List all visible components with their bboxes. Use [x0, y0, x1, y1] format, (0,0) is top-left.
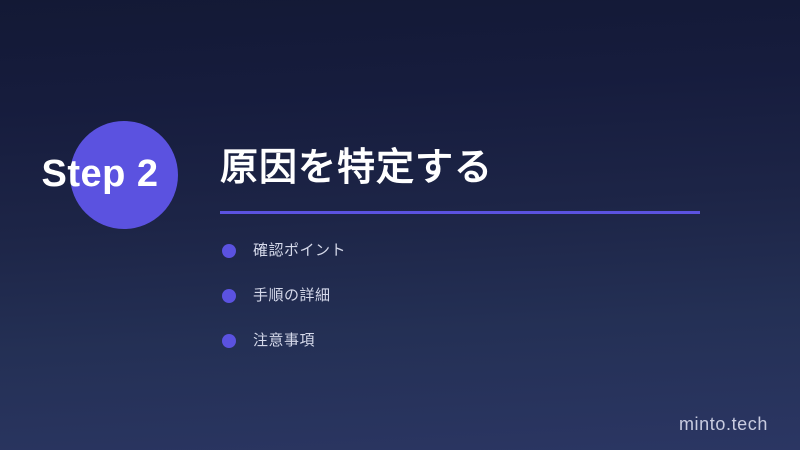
footer-brand: minto.tech — [679, 412, 768, 436]
step-badge-label: Step 2 — [0, 150, 200, 198]
list-item-label: 手順の詳細 — [253, 286, 331, 306]
bullet-dot-icon — [222, 289, 236, 303]
list-item: 手順の詳細 — [220, 282, 780, 310]
list-item: 確認ポイント — [220, 237, 780, 265]
presentation-slide: Step 2 原因を特定する 確認ポイント 手順の詳細 注意事項 minto.t… — [0, 0, 800, 450]
list-item: 注意事項 — [220, 327, 780, 355]
bullet-dot-icon — [222, 244, 236, 258]
list-item-label: 注意事項 — [253, 331, 315, 351]
title-divider — [220, 211, 700, 214]
bullet-list: 確認ポイント 手順の詳細 注意事項 — [220, 237, 780, 355]
slide-content: 原因を特定する 確認ポイント 手順の詳細 注意事項 — [220, 145, 780, 372]
step-badge: Step 2 — [0, 110, 220, 240]
slide-title: 原因を特定する — [220, 145, 780, 191]
list-item-label: 確認ポイント — [253, 241, 346, 261]
bullet-dot-icon — [222, 334, 236, 348]
